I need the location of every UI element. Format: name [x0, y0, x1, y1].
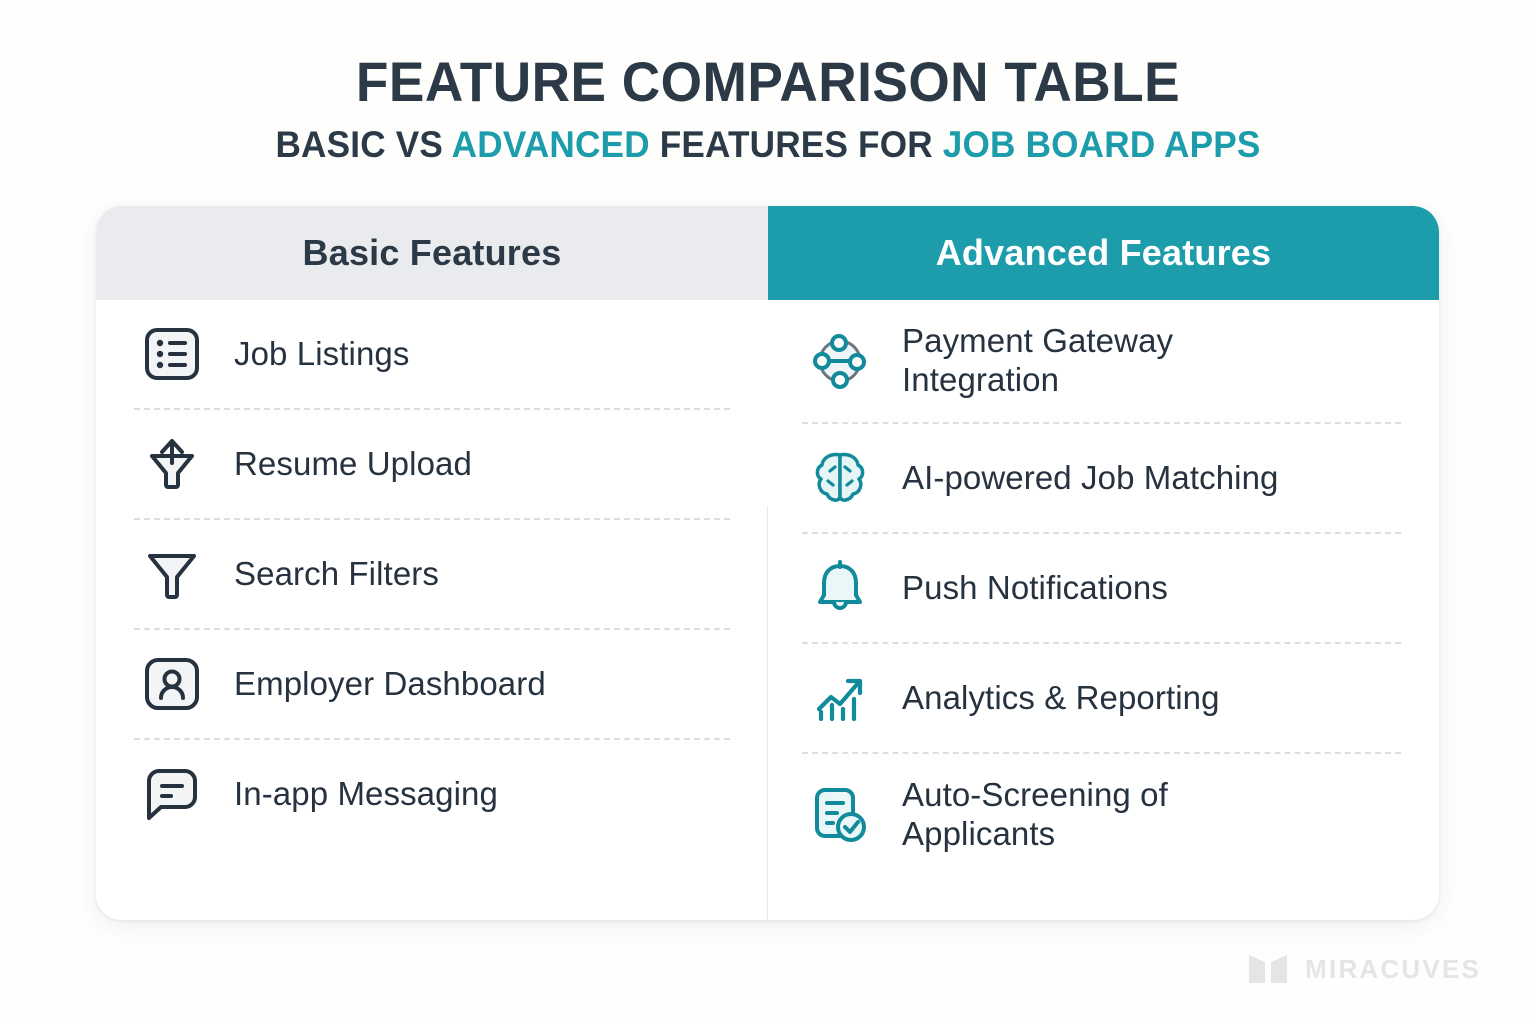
list-item-label: Push Notifications [902, 569, 1168, 608]
list-item-label: Payment Gateway Integration [902, 322, 1322, 400]
advanced-rows-list: Payment Gateway Integration [768, 300, 1439, 876]
subtitle-highlight-advanced: ADVANCED [452, 124, 650, 165]
subtitle-highlight-jobboard: JOB BOARD APPS [943, 124, 1261, 165]
column-divider [767, 506, 768, 920]
subtitle-part-1: BASIC VS [275, 124, 451, 165]
brand-name: MIRACUVES [1305, 954, 1481, 985]
column-advanced-features: Advanced Features Payment Gateway [768, 206, 1439, 920]
list-item[interactable]: Employer Dashboard [96, 630, 768, 738]
list-item[interactable]: Search Filters [96, 520, 768, 628]
list-item-label: Resume Upload [234, 445, 472, 484]
miracuves-logo-icon [1247, 952, 1291, 986]
list-item[interactable]: AI-powered Job Matching [768, 424, 1439, 532]
infographic-page: FEATURE COMPARISON TABLE BASIC VS ADVANC… [0, 0, 1536, 1024]
list-item[interactable]: Resume Upload [96, 410, 768, 518]
list-item-label: Analytics & Reporting [902, 679, 1220, 718]
brain-icon [802, 440, 878, 516]
list-item[interactable]: In-app Messaging [96, 740, 768, 848]
brand-footer: MIRACUVES [1247, 952, 1481, 986]
document-check-icon [802, 777, 878, 853]
list-item-label: Auto-Screening of Applicants [902, 776, 1302, 854]
bell-icon [802, 550, 878, 626]
upload-icon [134, 426, 210, 502]
comparison-table-card: Basic Features Job [96, 206, 1439, 920]
list-icon [134, 316, 210, 392]
list-item-label: Job Listings [234, 335, 409, 374]
column-header-advanced: Advanced Features [768, 206, 1439, 300]
page-title: FEATURE COMPARISON TABLE [38, 54, 1497, 110]
page-subtitle: BASIC VS ADVANCED FEATURES FOR JOB BOARD… [38, 126, 1497, 163]
list-item-label: AI-powered Job Matching [902, 459, 1279, 498]
network-nodes-icon [802, 323, 878, 399]
list-item[interactable]: Push Notifications [768, 534, 1439, 642]
list-item[interactable]: Auto-Screening of Applicants [768, 754, 1439, 876]
list-item[interactable]: Job Listings [96, 300, 768, 408]
list-item-label: Search Filters [234, 555, 439, 594]
list-item[interactable]: Analytics & Reporting [768, 644, 1439, 752]
list-item-label: Employer Dashboard [234, 665, 546, 704]
list-item[interactable]: Payment Gateway Integration [768, 300, 1439, 422]
subtitle-part-2: FEATURES FOR [650, 124, 943, 165]
title-block: FEATURE COMPARISON TABLE BASIC VS ADVANC… [0, 0, 1536, 163]
user-card-icon [134, 646, 210, 722]
chart-growth-icon [802, 660, 878, 736]
basic-rows-list: Job Listings Resume Upload [96, 300, 768, 848]
list-item-label: In-app Messaging [234, 775, 498, 814]
column-basic-features: Basic Features Job [96, 206, 768, 920]
filter-icon [134, 536, 210, 612]
column-header-basic: Basic Features [96, 206, 768, 300]
chat-icon [134, 756, 210, 832]
